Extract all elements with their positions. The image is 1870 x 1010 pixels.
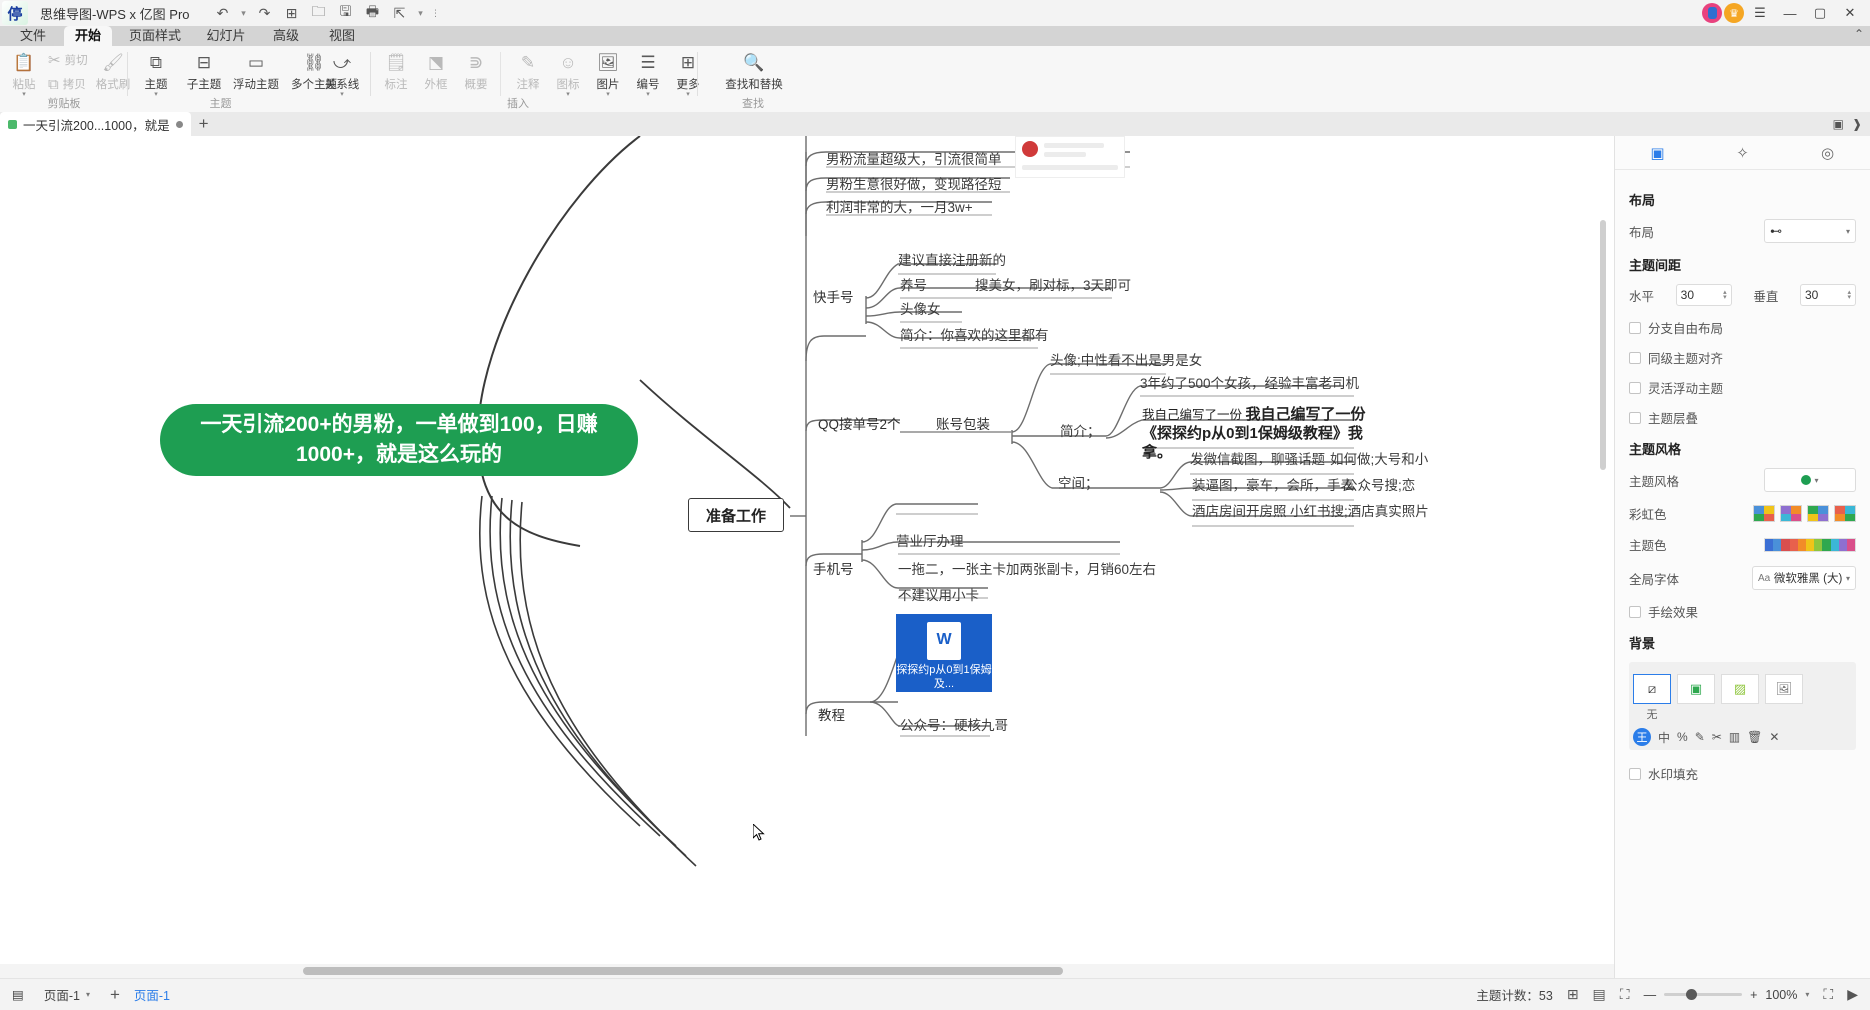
font-aa-icon: Aa (1758, 573, 1770, 584)
image-label: 图片 (586, 76, 630, 92)
chevron-down-icon[interactable]: ▾ (1805, 990, 1809, 999)
style-select[interactable]: ▾ (1764, 468, 1856, 492)
maximize-button[interactable]: ▢ (1806, 1, 1834, 25)
topic-count-value: 53 (1539, 989, 1553, 1003)
document-tab-strip: 一天引流200...1000，就是 + ▣ ❱ (0, 112, 1870, 136)
layout-preview-icon: ⊷ (1770, 224, 1782, 238)
spinner-arrows-icon[interactable]: ▴▾ (1723, 290, 1727, 300)
boundary-label: 外框 (414, 76, 458, 92)
status-right: 主题计数：53 ⊞ ▤ ⛶ — + 100% ▾ ⛶ ▶ (1476, 985, 1870, 1004)
canvas-vscroll-thumb[interactable] (1600, 220, 1606, 470)
checkbox-icon[interactable] (1629, 606, 1641, 618)
background-solid-option[interactable]: ▣ (1677, 674, 1715, 704)
more-icon[interactable]: ⋮ (431, 3, 441, 23)
rainbow-swatch-1[interactable] (1753, 505, 1775, 522)
node-qq-avatar[interactable]: 头像;中性看不出是男是女 (1050, 353, 1202, 370)
ribbon-tab-bar: 文件 开始 页面样式 幻灯片 高级 视图 ⌃ (0, 26, 1870, 46)
zoom-level[interactable]: 100% (1765, 988, 1797, 1002)
main-branch-node[interactable]: 准备工作 (688, 498, 784, 532)
topic-label: 主题 (134, 76, 178, 92)
node-qq[interactable]: QQ接单号2个 (818, 417, 901, 434)
node-qq-intro-label[interactable]: 简介； (1060, 424, 1101, 441)
node-phone[interactable]: 手机号 (813, 562, 854, 579)
checkbox-topic-stack-label: 主题层叠 (1648, 408, 1698, 427)
checkbox-icon[interactable] (1629, 768, 1641, 780)
tab-page-style[interactable]: 页面样式 (120, 26, 190, 46)
copy-button[interactable]: ⧉ 拷贝 (48, 76, 86, 92)
relation-line-label: 关系线 (320, 76, 364, 92)
node-space-row-2-left[interactable]: 装逼图，豪车，会所，手表 (1192, 478, 1354, 495)
boundary-button[interactable]: ⬔ 外框 (414, 49, 458, 92)
app-title: 思维导图-WPS x 亿图 Pro (40, 4, 190, 23)
quick-access-toolbar: ↶ ▾ ↷ ⊞ 🗀 🖫 🖶 ⇱ ▾ ⋮ (212, 3, 441, 23)
watermark-zhong-icon[interactable]: 中 (1658, 729, 1670, 746)
global-font-select[interactable]: Aa 微软雅黑 (大) ▾ (1752, 566, 1856, 590)
page-tag[interactable]: 页面-1 (134, 985, 170, 1004)
numbering-caret-icon[interactable]: ▾ (626, 92, 670, 98)
vertical-label: 垂直 (1753, 286, 1778, 305)
group-name-find: 查找 (698, 95, 808, 111)
ribbon-group-find: 🔍 查找和替换 查找 (698, 46, 808, 112)
ai-sparkle-icon[interactable]: ✧ (1700, 136, 1785, 170)
ribbon-group-topic: ⧉ 主题 ▾ ⊟ 子主题 ▭ 浮动主题 ⛓ 多个主题 主题 (128, 46, 313, 112)
menu-icon[interactable]: ☰ (1746, 1, 1774, 25)
share-icon[interactable]: ⇱ (389, 3, 411, 23)
rainbow-swatches[interactable] (1753, 505, 1856, 522)
node-top-2[interactable]: 男粉生意很好做，变现路径短 (826, 177, 1002, 194)
print-icon[interactable]: 🖶 (362, 3, 384, 23)
mindmap-canvas[interactable]: 一天引流200+的男粉，一单做到100，日赚1000+，就是这么玩的 准备工作 … (0, 136, 1614, 978)
floating-topic-icon: ▭ (228, 49, 284, 75)
numbering-button[interactable]: ☰ 编号 ▾ (626, 49, 670, 98)
note-icon: ✎ (506, 49, 550, 75)
relation-line-icon: ⤻ (320, 49, 364, 75)
chevron-down-icon: ▾ (1814, 476, 1818, 485)
relation-line-button[interactable]: ⤻ 关系线 ▾ (320, 49, 364, 98)
attachment-caption: 探探约p从0到1保姆及... (896, 664, 992, 692)
section-title-layout: 布局 (1629, 190, 1856, 209)
doc-tab-label: 一天引流200...1000，就是 (23, 115, 170, 134)
node-qq-intro-detail-2-prefix: 我自己编写了一份 (1142, 408, 1245, 422)
node-qq-packaging[interactable]: 账号包装 (936, 417, 990, 434)
node-top-1[interactable]: 男粉流量超级大，引流很简单 (826, 152, 1002, 169)
checkbox-align-siblings[interactable]: 同级主题对齐 (1629, 348, 1856, 367)
topic-count-label: 主题计数： (1476, 989, 1539, 1003)
ribbon-group-clipboard: 📋 粘贴 ▾ ✂ 剪切 ⧉ 拷贝 🖌 格式刷 剪贴板 (0, 46, 128, 112)
layout-label: 布局 (1629, 222, 1654, 241)
global-font-label: 全局字体 (1629, 569, 1679, 588)
view-mind-icon[interactable]: ⊞ (1567, 986, 1579, 1003)
open-icon[interactable]: 🗀 (308, 3, 330, 23)
zoom-controls: — + 100% ▾ (1644, 988, 1810, 1002)
background-none-label: 无 (1633, 706, 1671, 722)
node-qq-space-label[interactable]: 空间； (1058, 476, 1099, 493)
rainbow-label: 彩虹色 (1629, 504, 1667, 523)
node-space-row-2-right[interactable]: 公众号搜;恋 (1344, 478, 1415, 495)
node-qq-intro-detail-1[interactable]: 3年约了500个女孩，经验丰富老司机 (1140, 376, 1359, 393)
chevron-down-icon: ▾ (1846, 574, 1850, 583)
section-title-style: 主题风格 (1629, 439, 1856, 458)
title-bar: 停 思维导图-WPS x 亿图 Pro ↶ ▾ ↷ ⊞ 🗀 🖫 🖶 ⇱ ▾ ⋮ … (0, 0, 1870, 26)
layout-select[interactable]: ⊷ ▾ (1764, 219, 1856, 243)
rainbow-swatch-2[interactable] (1780, 505, 1802, 522)
summary-label: 概要 (454, 76, 498, 92)
node-space-row-1-left[interactable]: 发微信截图，聊骚话题 (1190, 452, 1325, 469)
paste-label: 粘贴 (2, 76, 46, 92)
node-kuaishou-child-2[interactable]: 养号 (900, 278, 927, 295)
chevron-down-icon: ▾ (86, 990, 90, 999)
subtopic-button[interactable]: ⊟ 子主题 (176, 49, 232, 92)
checkbox-free-layout[interactable]: 分支自由布局 (1629, 318, 1856, 337)
cut-label: 剪切 (65, 52, 88, 68)
node-phone-child-3[interactable]: 不建议用小卡 (898, 588, 979, 605)
trash-icon[interactable]: 🗑 (1747, 730, 1762, 744)
node-kuaishou-child-1[interactable]: 建议直接注册新的 (898, 253, 1006, 270)
right-side-panel: ▣ ✧ ◎ 布局 布局 ⊷ ▾ 主题间距 水平 30 ▴▾ 垂直 (1614, 136, 1870, 978)
save-icon[interactable]: 🖫 (335, 3, 357, 23)
topic-count: 主题计数：53 (1476, 985, 1552, 1004)
background-image-option[interactable]: 🖼 (1765, 674, 1803, 704)
percent-icon[interactable]: % (1677, 730, 1688, 744)
zoom-slider[interactable] (1664, 993, 1742, 996)
rainbow-row: 彩虹色 (1629, 504, 1856, 523)
redo-icon[interactable]: ↷ (254, 3, 276, 23)
theme-color-row: 主题色 (1629, 535, 1856, 554)
style-preview-dot-icon (1801, 475, 1811, 485)
paste-button[interactable]: 📋 粘贴 ▾ (2, 49, 46, 98)
new-icon[interactable]: ⊞ (281, 3, 303, 23)
subtopic-icon: ⊟ (176, 49, 232, 75)
new-tab-button[interactable]: + (191, 114, 217, 134)
tab-file[interactable]: 文件 (8, 26, 58, 46)
horizontal-spinner[interactable]: 30 ▴▾ (1676, 284, 1732, 306)
find-replace-label: 查找和替换 (716, 76, 792, 92)
checkbox-icon[interactable] (1629, 382, 1641, 394)
callout-button[interactable]: 🗒 标注 (374, 49, 418, 92)
attachment-node[interactable]: 探探约p从0到1保姆及... (896, 614, 992, 692)
checkbox-free-layout-label: 分支自由布局 (1648, 318, 1723, 337)
ribbon-collapse-icon[interactable]: ⌃ (1854, 27, 1864, 41)
checkbox-watermark[interactable]: 水印填充 (1629, 764, 1856, 783)
strip-right-tools: ▣ ❱ (1833, 117, 1870, 131)
checkbox-watermark-label: 水印填充 (1648, 764, 1698, 783)
target-icon[interactable]: ◎ (1785, 136, 1870, 170)
canvas-vertical-scrollbar[interactable] (1600, 220, 1608, 660)
app-logo-icon: 停 (2, 1, 28, 25)
background-mini-toolbar: 王 中 % ✎ ✂ ▥ 🗑 ✕ (1633, 728, 1852, 746)
spacing-row: 水平 30 ▴▾ 垂直 30 ▴▾ (1629, 284, 1856, 306)
doc-tab[interactable]: 一天引流200...1000，就是 (0, 112, 191, 136)
rainbow-swatch-3[interactable] (1807, 505, 1829, 522)
checkbox-hand-drawn-label: 手绘效果 (1648, 602, 1698, 621)
status-left: ▤ 页面-1 ▾ + 页面-1 (0, 982, 170, 1007)
watermark-king-icon[interactable]: 王 (1633, 728, 1651, 746)
callout-label: 标注 (374, 76, 418, 92)
wps-mindmap-window: 停 思维导图-WPS x 亿图 Pro ↶ ▾ ↷ ⊞ 🗀 🖫 🖶 ⇱ ▾ ⋮ … (0, 0, 1870, 1010)
node-space-row-1-right[interactable]: 如何做;大号和小 (1330, 452, 1428, 469)
node-kuaishou[interactable]: 快手号 (813, 290, 854, 307)
checkbox-flexible-floating-label: 灵活浮动主题 (1648, 378, 1723, 397)
zoom-in-button[interactable]: + (1750, 988, 1757, 1002)
horizontal-value: 30 (1681, 288, 1694, 302)
avatar[interactable] (1702, 3, 1722, 23)
node-kuaishou-child-2-detail[interactable]: 搜美女，刷对标，3天即可 (975, 278, 1131, 295)
status-bar: ▤ 页面-1 ▾ + 页面-1 主题计数：53 ⊞ ▤ ⛶ — + 100% ▾… (0, 978, 1870, 1010)
sticker-icon: ☺ (546, 49, 590, 75)
tab-slides[interactable]: 幻灯片 (198, 26, 254, 46)
node-kuaishou-child-4[interactable]: 简介：你喜欢的这里都有 (900, 328, 1049, 345)
panel-toggle-icon[interactable]: ▣ (1833, 117, 1844, 131)
group-name-insert: 插入 (438, 95, 598, 111)
image-button[interactable]: 🖼 图片 ▾ (586, 49, 630, 98)
collapse-panel-icon[interactable]: ❱ (1852, 117, 1862, 131)
tab-home[interactable]: 开始 (64, 26, 112, 46)
zoom-slider-handle[interactable] (1686, 989, 1697, 1000)
theme-color-label: 主题色 (1629, 535, 1667, 554)
vip-crown-icon[interactable]: ♛ (1724, 3, 1744, 23)
floating-topic-button[interactable]: ▭ 浮动主题 (228, 49, 284, 92)
find-replace-button[interactable]: 🔍 查找和替换 (716, 49, 792, 92)
checkbox-hand-drawn[interactable]: 手绘效果 (1629, 602, 1856, 621)
undo-caret-icon[interactable]: ▾ (239, 3, 249, 23)
group-name-clipboard: 剪贴板 (0, 95, 128, 111)
note-label: 注释 (506, 76, 550, 92)
page-selector[interactable]: 页面-1 ▾ (38, 982, 96, 1007)
view-outline-icon[interactable]: ▤ (1593, 986, 1606, 1003)
node-tutorial-child-1[interactable]: 公众号：硬核九哥 (900, 718, 1008, 735)
central-topic[interactable]: 一天引流200+的男粉，一单做到100，日赚1000+，就是这么玩的 (160, 404, 638, 476)
insert-divider (500, 52, 501, 96)
view-fit-icon[interactable]: ⛶ (1620, 986, 1630, 1003)
section-title-background: 背景 (1629, 633, 1856, 652)
right-panel-body: 布局 布局 ⊷ ▾ 主题间距 水平 30 ▴▾ 垂直 30 ▴▾ (1615, 170, 1870, 802)
node-phone-child-2[interactable]: 一拖二，一张主卡加两张副卡，月销60左右 (898, 562, 1156, 579)
ribbon-group-insert: ⤻ 关系线 ▾ 🗒 标注 ⬔ 外框 ⋑ 概要 ✎ 注释 ☺ (318, 46, 698, 112)
vertical-value: 30 (1805, 288, 1818, 302)
summary-icon: ⋑ (454, 49, 498, 75)
checkbox-align-siblings-label: 同级主题对齐 (1648, 348, 1723, 367)
numbering-label: 编号 (626, 76, 670, 92)
ribbon: 📋 粘贴 ▾ ✂ 剪切 ⧉ 拷贝 🖌 格式刷 剪贴板 ⧉ 主题 (0, 46, 1870, 112)
cut-button[interactable]: ✂ 剪切 (48, 52, 88, 68)
logo-text: 停 (7, 3, 22, 24)
minimize-button[interactable]: — (1776, 1, 1804, 25)
note-button[interactable]: ✎ 注释 (506, 49, 550, 92)
section-title-spacing: 主题间距 (1629, 255, 1856, 274)
checkbox-icon[interactable] (1629, 352, 1641, 364)
background-picker: ⧄ ▣ ▨ 🖼 无 王 中 % ✎ ✂ ▥ 🗑 ✕ (1629, 662, 1856, 750)
mindmap-connectors (0, 136, 1614, 978)
zoom-out-button[interactable]: — (1644, 988, 1657, 1002)
clipboard-icon: 📋 (2, 49, 46, 75)
sticker-button[interactable]: ☺ 图标 ▾ (546, 49, 590, 98)
presentation-icon[interactable]: ▶ (1847, 986, 1858, 1003)
frame-icon[interactable]: ▥ (1729, 730, 1740, 744)
subtopic-label: 子主题 (176, 76, 232, 92)
numbering-icon: ☰ (626, 49, 670, 75)
relation-line-caret-icon[interactable]: ▾ (320, 92, 364, 98)
canvas-hscroll-thumb[interactable] (303, 967, 1063, 975)
node-phone-child-1[interactable]: 营业厅办理 (896, 534, 964, 551)
share-caret-icon[interactable]: ▾ (416, 3, 426, 23)
checkbox-icon[interactable] (1629, 412, 1641, 424)
node-kuaishou-child-3[interactable]: 头像女 (900, 302, 941, 319)
add-page-button[interactable]: + (110, 985, 120, 1005)
word-doc-icon (927, 622, 961, 660)
layout-row: 布局 ⊷ ▾ (1629, 219, 1856, 243)
global-font-value: 微软雅黑 (大) (1774, 570, 1842, 586)
global-font-row: 全局字体 Aa 微软雅黑 (大) ▾ (1629, 566, 1856, 590)
tab-advanced[interactable]: 高级 (262, 26, 310, 46)
close-button[interactable]: ✕ (1836, 1, 1864, 25)
scissors-icon[interactable]: ✂ (1712, 730, 1722, 744)
boundary-icon: ⬔ (414, 49, 458, 75)
fullscreen-icon[interactable]: ⛶ (1823, 986, 1833, 1003)
group-name-topic: 主题 (128, 95, 313, 111)
theme-color-bar[interactable] (1764, 538, 1856, 552)
undo-icon[interactable]: ↶ (212, 3, 234, 23)
screenshot-thumbnail[interactable] (1015, 136, 1125, 178)
checkbox-topic-stack[interactable]: 主题层叠 (1629, 408, 1856, 427)
doc-type-icon (8, 120, 17, 129)
thumbnail-avatar-icon (1022, 141, 1038, 157)
window-controls: ♛ ☰ — ▢ ✕ (1702, 1, 1870, 25)
pen-icon[interactable]: ✎ (1695, 730, 1705, 744)
sticker-label: 图标 (546, 76, 590, 92)
node-space-row-3-left[interactable]: 酒店房间开房照 (1192, 504, 1287, 521)
chevron-down-icon: ▾ (1846, 227, 1850, 236)
page-panel-icon[interactable]: ▤ (12, 987, 24, 1002)
style-label: 主题风格 (1629, 471, 1679, 490)
background-options: ⧄ ▣ ▨ 🖼 (1633, 674, 1852, 704)
node-space-row-3-right[interactable]: 小红书搜;酒店真实照片 (1290, 504, 1429, 521)
mouse-cursor (753, 824, 765, 842)
topic-button[interactable]: ⧉ 主题 ▾ (134, 49, 178, 98)
topic-icon: ⧉ (134, 49, 178, 75)
canvas-horizontal-scrollbar[interactable] (0, 964, 1614, 978)
rainbow-swatch-4[interactable] (1834, 505, 1856, 522)
floating-topic-label: 浮动主题 (228, 76, 284, 92)
tab-view[interactable]: 视图 (318, 26, 366, 46)
scissors-icon: ✂ (48, 53, 61, 68)
copy-label: 拷贝 (63, 76, 86, 92)
copy-icon: ⧉ (48, 77, 59, 92)
node-top-3[interactable]: 利润非常的大，一月3w+ (826, 200, 973, 217)
horizontal-label: 水平 (1629, 286, 1654, 305)
right-panel-tabs: ▣ ✧ ◎ (1615, 136, 1870, 170)
image-icon: 🖼 (586, 49, 630, 75)
vertical-spinner[interactable]: 30 ▴▾ (1800, 284, 1856, 306)
background-none-option[interactable]: ⧄ (1633, 674, 1671, 704)
page-label: 页面-1 (44, 985, 80, 1004)
style-row: 主题风格 ▾ (1629, 468, 1856, 492)
find-replace-icon: 🔍 (716, 49, 792, 75)
checkbox-flexible-floating[interactable]: 灵活浮动主题 (1629, 378, 1856, 397)
spinner-arrows-icon[interactable]: ▴▾ (1847, 290, 1851, 300)
unsaved-dot-icon (176, 121, 183, 128)
close-icon[interactable]: ✕ (1769, 730, 1779, 744)
layout-panel-icon[interactable]: ▣ (1615, 136, 1700, 170)
node-tutorial[interactable]: 教程 (818, 708, 845, 725)
checkbox-icon[interactable] (1629, 322, 1641, 334)
callout-icon: 🗒 (374, 49, 418, 75)
summary-button[interactable]: ⋑ 概要 (454, 49, 498, 92)
background-pattern-option[interactable]: ▨ (1721, 674, 1759, 704)
